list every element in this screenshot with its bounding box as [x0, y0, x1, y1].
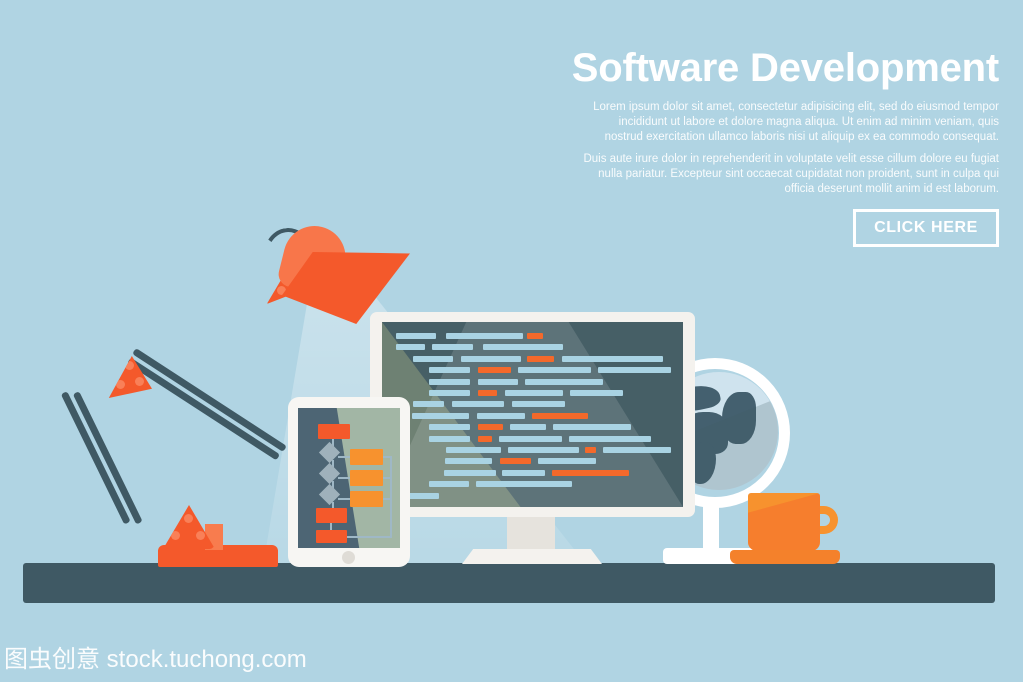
code-line-segment	[553, 424, 631, 430]
code-line-segment	[429, 367, 470, 373]
code-line-segment	[598, 367, 671, 373]
desk-surface	[23, 563, 995, 603]
code-line-segment	[444, 470, 496, 476]
code-line-segment	[412, 413, 469, 419]
page-title: Software Development	[572, 46, 999, 91]
code-line-segment	[552, 470, 629, 476]
monitor-screen	[382, 322, 683, 507]
code-line-segment	[476, 481, 572, 487]
code-line-segment	[508, 447, 579, 453]
flowchart-process-node	[318, 424, 350, 439]
code-line-segment	[570, 390, 623, 396]
lamp-upper-arm-b	[127, 358, 280, 461]
code-line-segment	[585, 447, 596, 453]
code-line-segment	[603, 447, 671, 453]
code-line-segment	[413, 401, 444, 407]
hero-paragraph-2: Duis aute irure dolor in reprehenderit i…	[579, 152, 999, 198]
code-line-segment	[461, 356, 521, 362]
monitor-neck	[507, 517, 555, 553]
code-line-segment	[429, 424, 470, 430]
code-line-segment	[478, 390, 497, 396]
code-line-segment	[525, 379, 603, 385]
flowchart-decision-node	[319, 463, 340, 484]
code-line-segment	[527, 333, 543, 339]
code-line-segment	[429, 436, 470, 442]
flowchart-decision-node	[319, 442, 340, 463]
code-line-segment	[478, 436, 492, 442]
flowchart-process-node	[316, 530, 347, 543]
code-line-segment	[518, 367, 591, 373]
click-here-button[interactable]: CLICK HERE	[853, 209, 999, 247]
code-line-segment	[499, 436, 562, 442]
code-line-segment	[538, 458, 596, 464]
hero-paragraph-1: Lorem ipsum dolor sit amet, consectetur …	[579, 100, 999, 146]
watermark-chinese: 图虫创意	[4, 645, 100, 673]
cup-body	[748, 493, 820, 551]
code-line-segment	[446, 333, 523, 339]
flowchart-process-node	[350, 470, 383, 486]
tablet-home-button[interactable]	[342, 551, 355, 564]
flowchart-connector	[347, 536, 392, 538]
code-line-segment	[413, 356, 453, 362]
watermark-domain: stock.tuchong.com	[107, 646, 307, 673]
code-line-segment	[445, 458, 492, 464]
code-line-segment	[483, 344, 563, 350]
illustration-scene: Software Development Lorem ipsum dolor s…	[0, 0, 1023, 682]
code-line-segment	[432, 344, 473, 350]
code-line-segment	[396, 344, 425, 350]
lamp-lower-arm-a	[61, 391, 131, 524]
code-line-segment	[478, 424, 503, 430]
code-line-segment	[500, 458, 531, 464]
code-line-segment	[527, 356, 554, 362]
code-line-segment	[510, 424, 546, 430]
code-line-segment	[478, 379, 518, 385]
monitor-base	[462, 549, 602, 564]
code-line-segment	[429, 481, 469, 487]
code-line-segment	[477, 413, 525, 419]
code-line-segment	[505, 390, 563, 396]
code-line-segment	[562, 356, 663, 362]
lamp-upper-arm-a	[132, 348, 287, 452]
flowchart-decision-node	[319, 484, 340, 505]
code-line-segment	[452, 401, 504, 407]
lamp-lower-arm-b	[73, 391, 143, 524]
code-line-segment	[532, 413, 588, 419]
watermark: 图虫创意 stock.tuchong.com	[4, 639, 307, 674]
code-line-segment	[502, 470, 545, 476]
flowchart-process-node	[350, 449, 383, 465]
flowchart-connector	[390, 456, 392, 537]
code-line-segment	[429, 390, 470, 396]
tablet-screen	[298, 408, 400, 548]
code-line-segment	[446, 447, 501, 453]
code-line-segment	[429, 379, 470, 385]
cup-body-shadow	[748, 493, 820, 551]
cup-saucer	[730, 550, 840, 564]
flowchart-process-node	[350, 491, 383, 507]
code-line-segment	[396, 333, 436, 339]
code-line-segment	[569, 436, 651, 442]
flowchart-process-node	[316, 508, 347, 523]
code-line-segment	[478, 367, 511, 373]
code-line-segment	[512, 401, 565, 407]
